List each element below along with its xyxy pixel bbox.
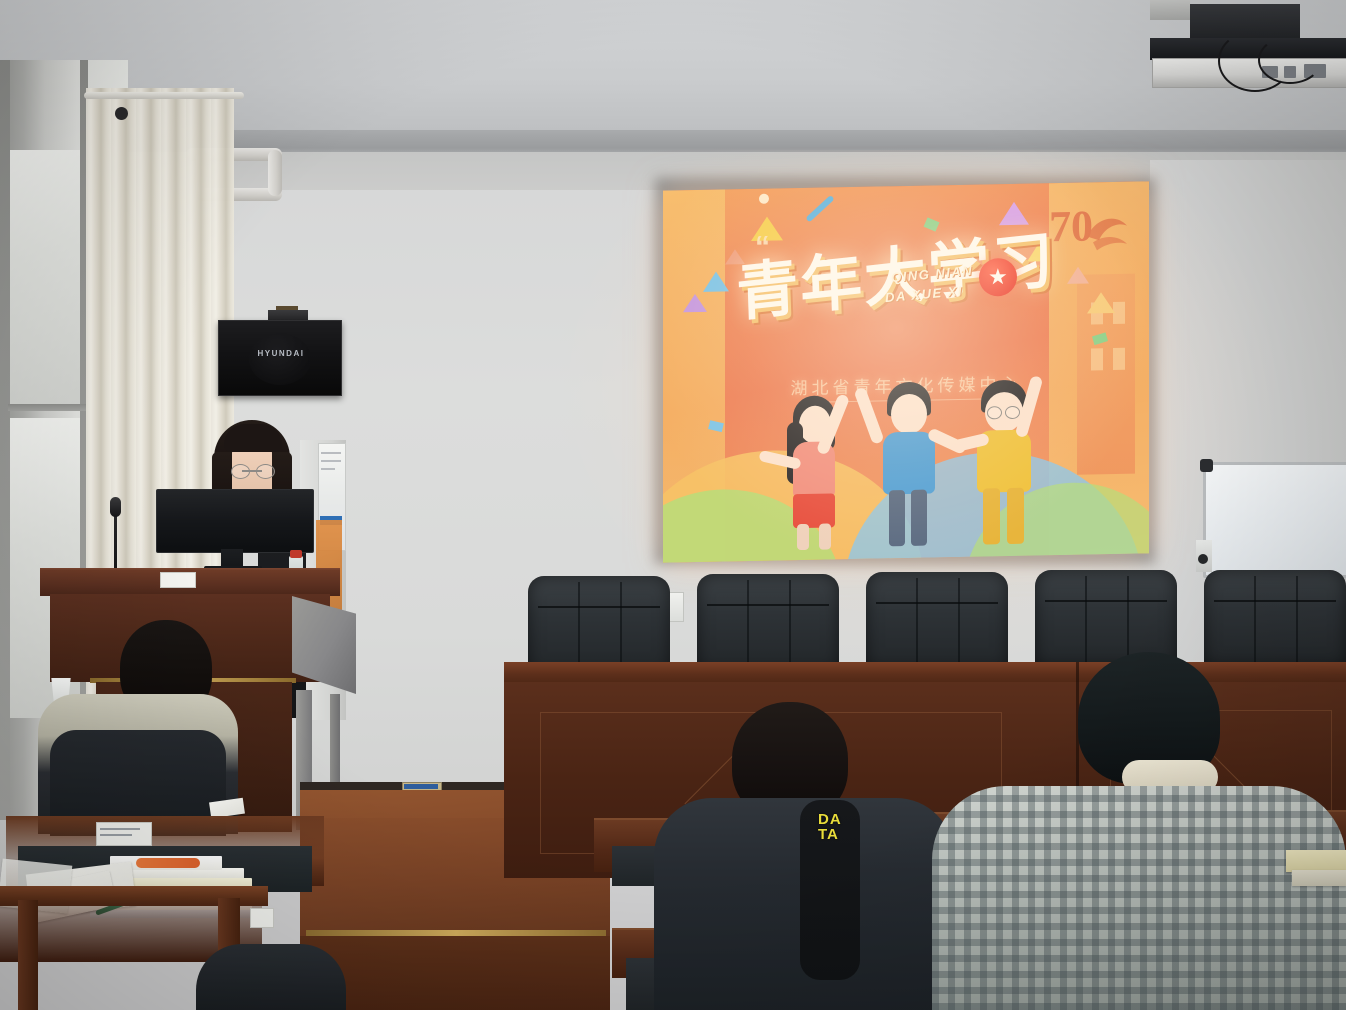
whiteboard bbox=[1203, 462, 1346, 578]
speaker-cone-icon bbox=[249, 333, 311, 385]
stage-front-panel bbox=[300, 936, 610, 1010]
poster-text-line bbox=[321, 468, 335, 470]
whiteboard-corner-bracket bbox=[1200, 459, 1213, 472]
executive-chair bbox=[528, 576, 670, 672]
executive-chair bbox=[697, 574, 839, 670]
window-mullion-left bbox=[0, 60, 10, 820]
book-cover-label bbox=[136, 858, 200, 868]
wall-speaker: HYUNDAI bbox=[218, 320, 342, 396]
speaker-brand-label: HYUNDAI bbox=[245, 349, 317, 358]
poster-text-line bbox=[321, 452, 341, 454]
slide-projector-glow bbox=[663, 181, 1149, 562]
bottle-cap bbox=[290, 550, 302, 558]
student-center-hoodie-print: DATA bbox=[818, 812, 844, 904]
bench-tag-text-line bbox=[100, 828, 140, 830]
window-pane-upper bbox=[8, 150, 86, 410]
curtain-rod-endcap bbox=[115, 107, 128, 120]
bench-tag-text-line bbox=[100, 834, 132, 836]
projection-screen: 70 “ 青年大学习 QING NIAN DA XUE XI ★ 湖北省青年文化… bbox=[663, 181, 1149, 562]
gooseneck-microphone bbox=[110, 497, 121, 517]
classroom-photo: HYUNDAI 70 bbox=[0, 0, 1346, 1010]
student-right-papers bbox=[1292, 870, 1346, 886]
executive-chair bbox=[866, 572, 1008, 668]
whiteboard-tray-knob bbox=[1198, 554, 1208, 564]
electrical-box-label bbox=[404, 784, 438, 789]
ceiling-mount-plate bbox=[1150, 0, 1190, 20]
lectern-asset-tag bbox=[160, 572, 196, 588]
poster-text-line bbox=[321, 460, 341, 462]
podium-monitor bbox=[156, 489, 314, 553]
window-transom bbox=[8, 404, 86, 411]
front-desk-leg-left bbox=[18, 900, 38, 1010]
projector-cable-secondary bbox=[1258, 36, 1322, 84]
presenter-glasses-bridge bbox=[242, 470, 262, 472]
front-desk-asset-tag bbox=[250, 908, 274, 928]
microphone-stem bbox=[114, 508, 117, 576]
student-right-plaid-coat bbox=[932, 786, 1346, 1010]
presenter-fringe bbox=[224, 424, 282, 452]
ceiling-pipe-riser bbox=[268, 150, 282, 196]
foreground-person-shoulder bbox=[196, 944, 346, 1010]
student-right-notebook bbox=[1286, 850, 1346, 872]
presenter-glasses-icon bbox=[256, 464, 275, 479]
curtain-rod bbox=[84, 92, 244, 99]
presenter-glasses-icon bbox=[231, 464, 250, 479]
panel-desk-top bbox=[504, 662, 1346, 684]
executive-chair bbox=[1204, 570, 1346, 666]
